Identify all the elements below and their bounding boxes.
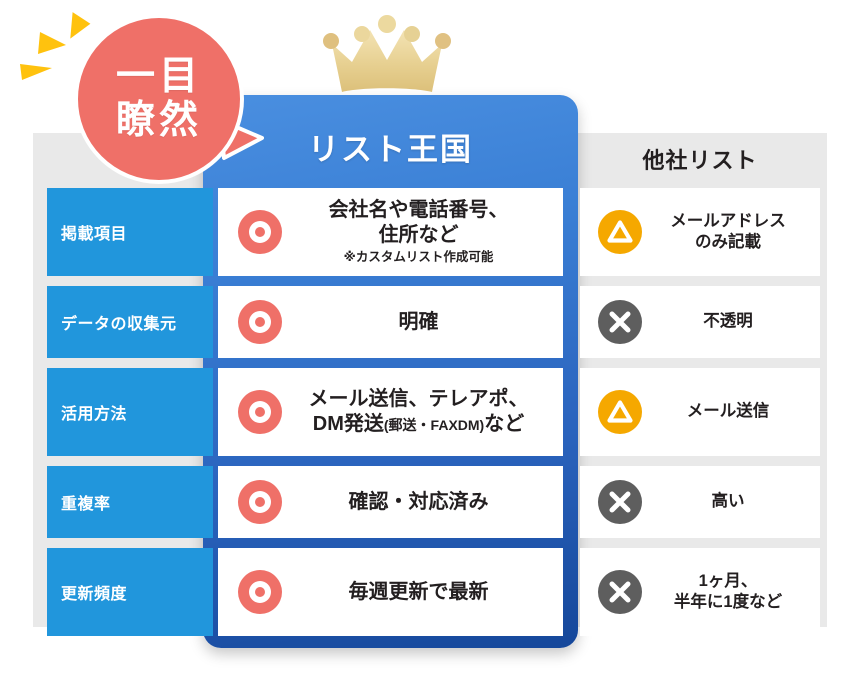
warning-triangle-icon [598, 210, 642, 254]
other-cell-5: 1ヶ月、半年に1度など [580, 548, 820, 636]
other-text-line1: 不透明 [703, 312, 753, 330]
row-label-2: データの収集元 [47, 286, 213, 358]
other-cell-1: メールアドレスのみ記載 [580, 188, 820, 276]
main-cell-text: 明確 [282, 310, 563, 335]
other-cell-text: メール送信 [642, 401, 820, 422]
other-cell-2: 不透明 [580, 286, 820, 358]
row-label-text: 重複率 [47, 490, 111, 514]
main-text-line2: DM発送(郵送・FAXDM)など [313, 413, 524, 435]
main-text-line1: 確認・対応済み [349, 491, 489, 513]
main-text-line1: 会社名や電話番号、 [329, 199, 509, 221]
badge-line-2: 瞭然 [116, 99, 202, 143]
row-label-3: 活用方法 [47, 368, 213, 456]
main-cell-text: メール送信、テレアポ、DM発送(郵送・FAXDM)など [282, 387, 563, 437]
main-text-line2: 住所など [379, 224, 459, 246]
highlight-badge: 一目 瞭然 [74, 14, 244, 184]
badge-line-1: 一目 [116, 55, 202, 99]
main-text-line1: メール送信、テレアポ、 [309, 388, 529, 410]
other-text-line1: 高い [712, 492, 745, 510]
row-label-5: 更新頻度 [47, 548, 213, 636]
other-text-line2: 半年に1度など [674, 593, 782, 611]
other-cell-4: 高い [580, 466, 820, 538]
other-text-line1: 1ヶ月、 [699, 572, 758, 590]
crown-icon [322, 14, 452, 94]
main-cell-text: 会社名や電話番号、住所など※カスタムリスト作成可能 [282, 198, 563, 266]
main-cell-2: 明確 [218, 286, 563, 358]
main-cell-3: メール送信、テレアポ、DM発送(郵送・FAXDM)など [218, 368, 563, 456]
other-text-line2: のみ記載 [695, 233, 761, 251]
main-cell-note: ※カスタムリスト作成可能 [282, 250, 555, 266]
main-cell-4: 確認・対応済み [218, 466, 563, 538]
row-label-1: 掲載項目 [47, 188, 213, 276]
other-text-line1: メールアドレス [670, 212, 786, 230]
main-text-line1: 毎週更新で最新 [349, 581, 489, 603]
double-circle-icon [238, 480, 282, 524]
double-circle-icon [238, 300, 282, 344]
row-label-text: 掲載項目 [47, 220, 127, 244]
double-circle-icon [238, 570, 282, 614]
row-label-text: データの収集元 [47, 310, 177, 334]
other-cell-text: 1ヶ月、半年に1度など [642, 571, 820, 614]
other-text-line1: メール送信 [687, 402, 770, 420]
double-circle-icon [238, 210, 282, 254]
main-cell-5: 毎週更新で最新 [218, 548, 563, 636]
other-cell-text: メールアドレスのみ記載 [642, 211, 820, 254]
main-cell-1: 会社名や電話番号、住所など※カスタムリスト作成可能 [218, 188, 563, 276]
main-cell-text: 毎週更新で最新 [282, 580, 563, 605]
main-cell-text: 確認・対応済み [282, 490, 563, 515]
row-label-text: 活用方法 [47, 400, 127, 424]
other-cell-3: メール送信 [580, 368, 820, 456]
other-cell-text: 高い [642, 491, 820, 512]
main-text-line1: 明確 [399, 311, 439, 333]
cross-circle-icon [598, 300, 642, 344]
other-cell-text: 不透明 [642, 311, 820, 332]
warning-triangle-icon [598, 390, 642, 434]
row-label-4: 重複率 [47, 466, 213, 538]
cross-circle-icon [598, 570, 642, 614]
row-label-text: 更新頻度 [47, 580, 127, 604]
infographic-root: リスト王国 他社リスト [0, 0, 860, 673]
other-column-title: 他社リスト [580, 133, 820, 185]
main-text-sub: (郵送・FAXDM) [384, 417, 484, 433]
cross-circle-icon [598, 480, 642, 524]
double-circle-icon [238, 390, 282, 434]
